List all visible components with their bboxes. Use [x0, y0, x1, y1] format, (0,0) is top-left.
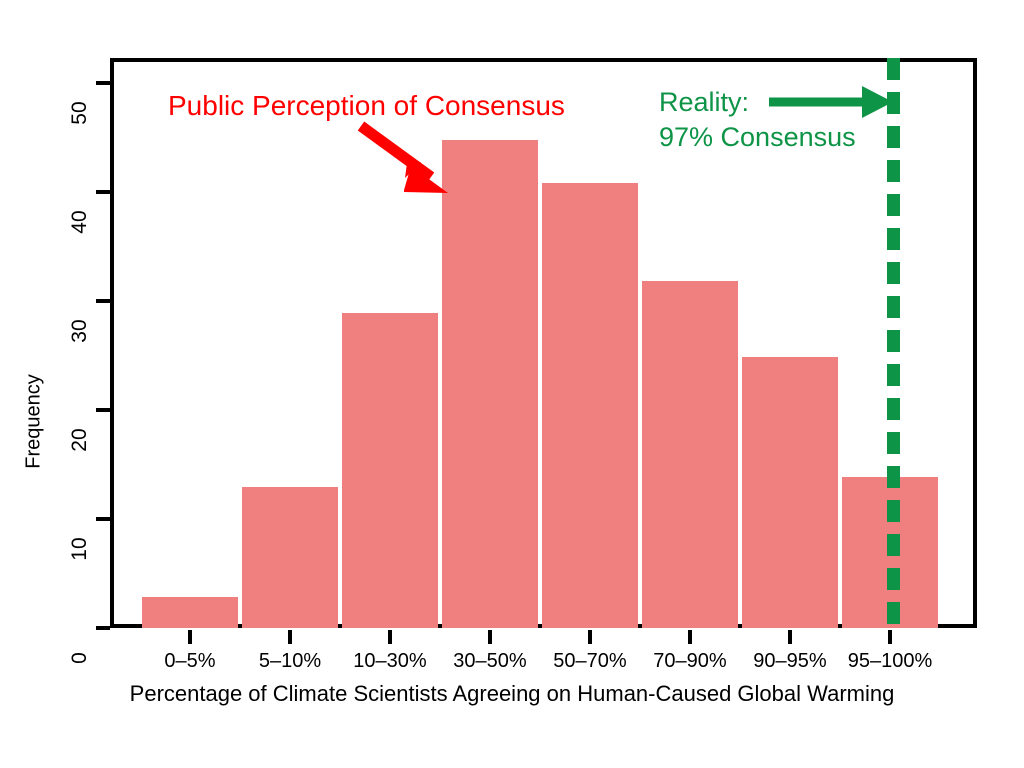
- histogram-figure: 01020304050 Frequency 0–5%5–10%10–30%30–…: [0, 0, 1024, 768]
- x-tick-label: 70–90%: [653, 650, 726, 673]
- x-tick-mark: [788, 630, 792, 644]
- y-tick-mark: [96, 190, 110, 194]
- y-axis-title: Frequency: [23, 352, 46, 492]
- x-tick-mark: [888, 630, 892, 644]
- y-tick-label: 10: [68, 519, 92, 579]
- x-tick-mark: [688, 630, 692, 644]
- x-tick-mark: [188, 630, 192, 644]
- x-tick-label: 90–95%: [753, 650, 826, 673]
- histogram-bar: [242, 487, 338, 628]
- reality-label-line1: Reality:: [659, 85, 856, 120]
- histogram-bar: [442, 140, 538, 628]
- x-tick-label: 95–100%: [848, 650, 933, 673]
- y-tick-label: 40: [68, 192, 92, 252]
- x-tick-label: 30–50%: [453, 650, 526, 673]
- histogram-bar: [742, 357, 838, 628]
- histogram-bar: [542, 183, 638, 628]
- x-tick-mark: [588, 630, 592, 644]
- x-tick-mark: [488, 630, 492, 644]
- y-tick-mark: [96, 408, 110, 412]
- reality-label-line2: 97% Consensus: [659, 120, 856, 155]
- y-tick-label: 20: [68, 410, 92, 470]
- y-tick-mark: [96, 299, 110, 303]
- x-tick-label: 5–10%: [259, 650, 321, 673]
- x-tick-label: 0–5%: [164, 650, 215, 673]
- y-tick-mark: [96, 626, 110, 630]
- x-tick-mark: [288, 630, 292, 644]
- x-axis-title: Percentage of Climate Scientists Agreein…: [0, 681, 1024, 707]
- y-tick-label: 0: [68, 628, 92, 688]
- x-tick-label: 50–70%: [553, 650, 626, 673]
- y-tick-label: 50: [68, 83, 92, 143]
- y-tick-label: 30: [68, 301, 92, 361]
- reality-consensus-line: [887, 58, 900, 628]
- histogram-bar: [342, 313, 438, 628]
- x-tick-mark: [388, 630, 392, 644]
- histogram-bar: [642, 281, 738, 628]
- public-perception-label: Public Perception of Consensus: [168, 90, 565, 122]
- y-tick-mark: [96, 517, 110, 521]
- histogram-bar: [142, 597, 238, 628]
- x-tick-label: 10–30%: [353, 650, 426, 673]
- reality-label-block: Reality: 97% Consensus: [659, 85, 856, 155]
- y-tick-mark: [96, 81, 110, 85]
